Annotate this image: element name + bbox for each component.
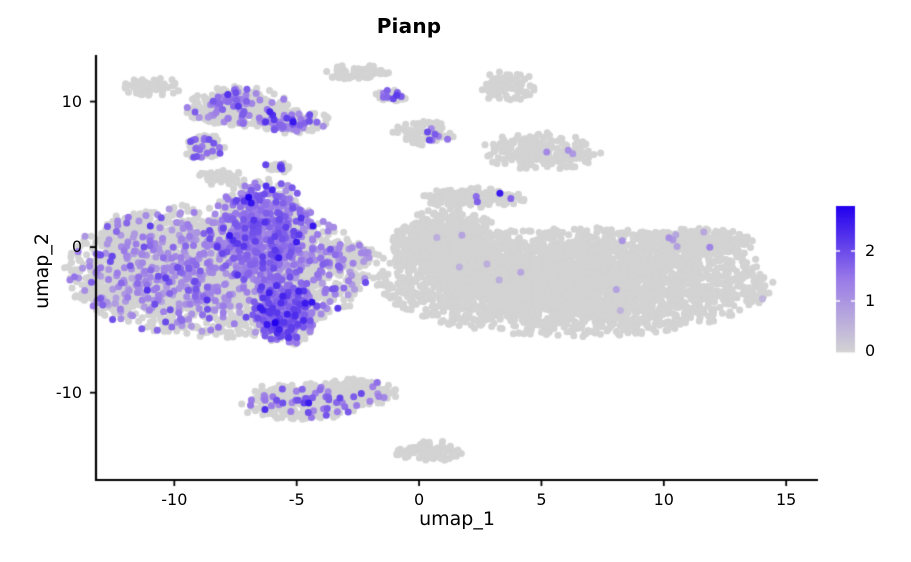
umap-feature-plot-figure: Pianp umap_1 umap_2 -10-5051015 -10010 0… (0, 0, 911, 562)
scatter-plot-canvas[interactable] (0, 0, 911, 562)
